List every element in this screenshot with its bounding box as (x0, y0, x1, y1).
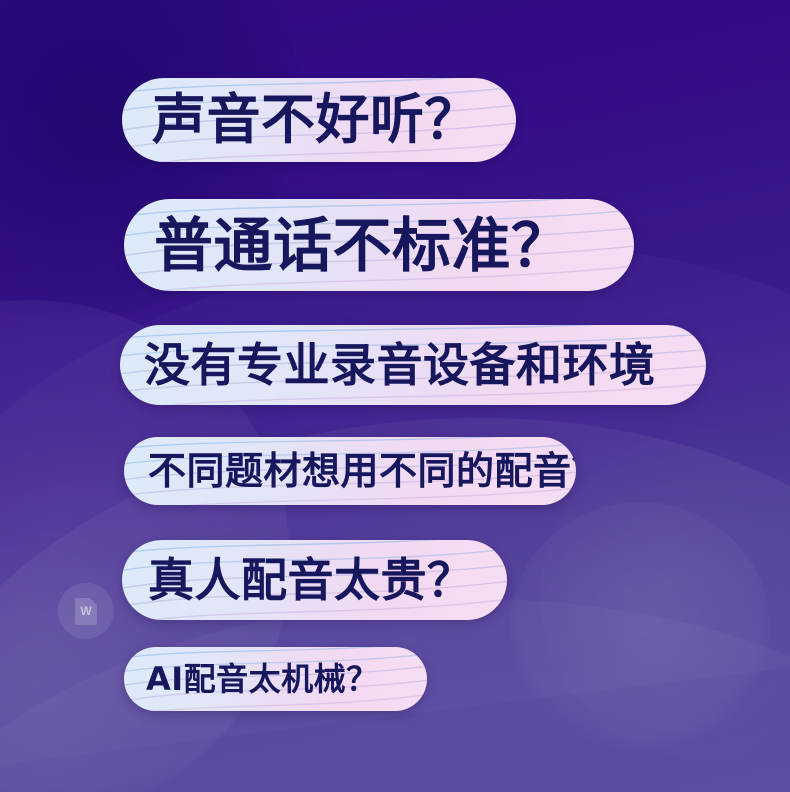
poster-canvas: W 声音不好听？ (0, 0, 790, 792)
question-pill-label: 普通话不标准？ (154, 216, 571, 275)
question-pill-list: 声音不好听？ 普通话不标准？ (0, 0, 790, 792)
question-pill-label: 声音不好听？ (152, 93, 479, 147)
question-pill-voice-quality[interactable]: 声音不好听？ (122, 78, 516, 162)
question-pill-label: AI配音太机械？ (146, 663, 379, 695)
question-pill-mandarin-accuracy[interactable]: 普通话不标准？ (124, 199, 634, 291)
question-pill-ai-robotic[interactable]: AI配音太机械？ (124, 647, 427, 711)
question-pill-label: 不同题材想用不同的配音？ (148, 452, 576, 490)
question-pill-recording-equipment[interactable]: 没有专业录音设备和环境 (120, 325, 706, 405)
question-pill-human-voice-cost[interactable]: 真人配音太贵？ (122, 540, 507, 620)
question-pill-varied-voiceover[interactable]: 不同题材想用不同的配音？ (124, 437, 576, 505)
question-pill-label: 没有专业录音设备和环境 (144, 342, 656, 388)
question-pill-label: 真人配音太贵？ (148, 557, 474, 603)
